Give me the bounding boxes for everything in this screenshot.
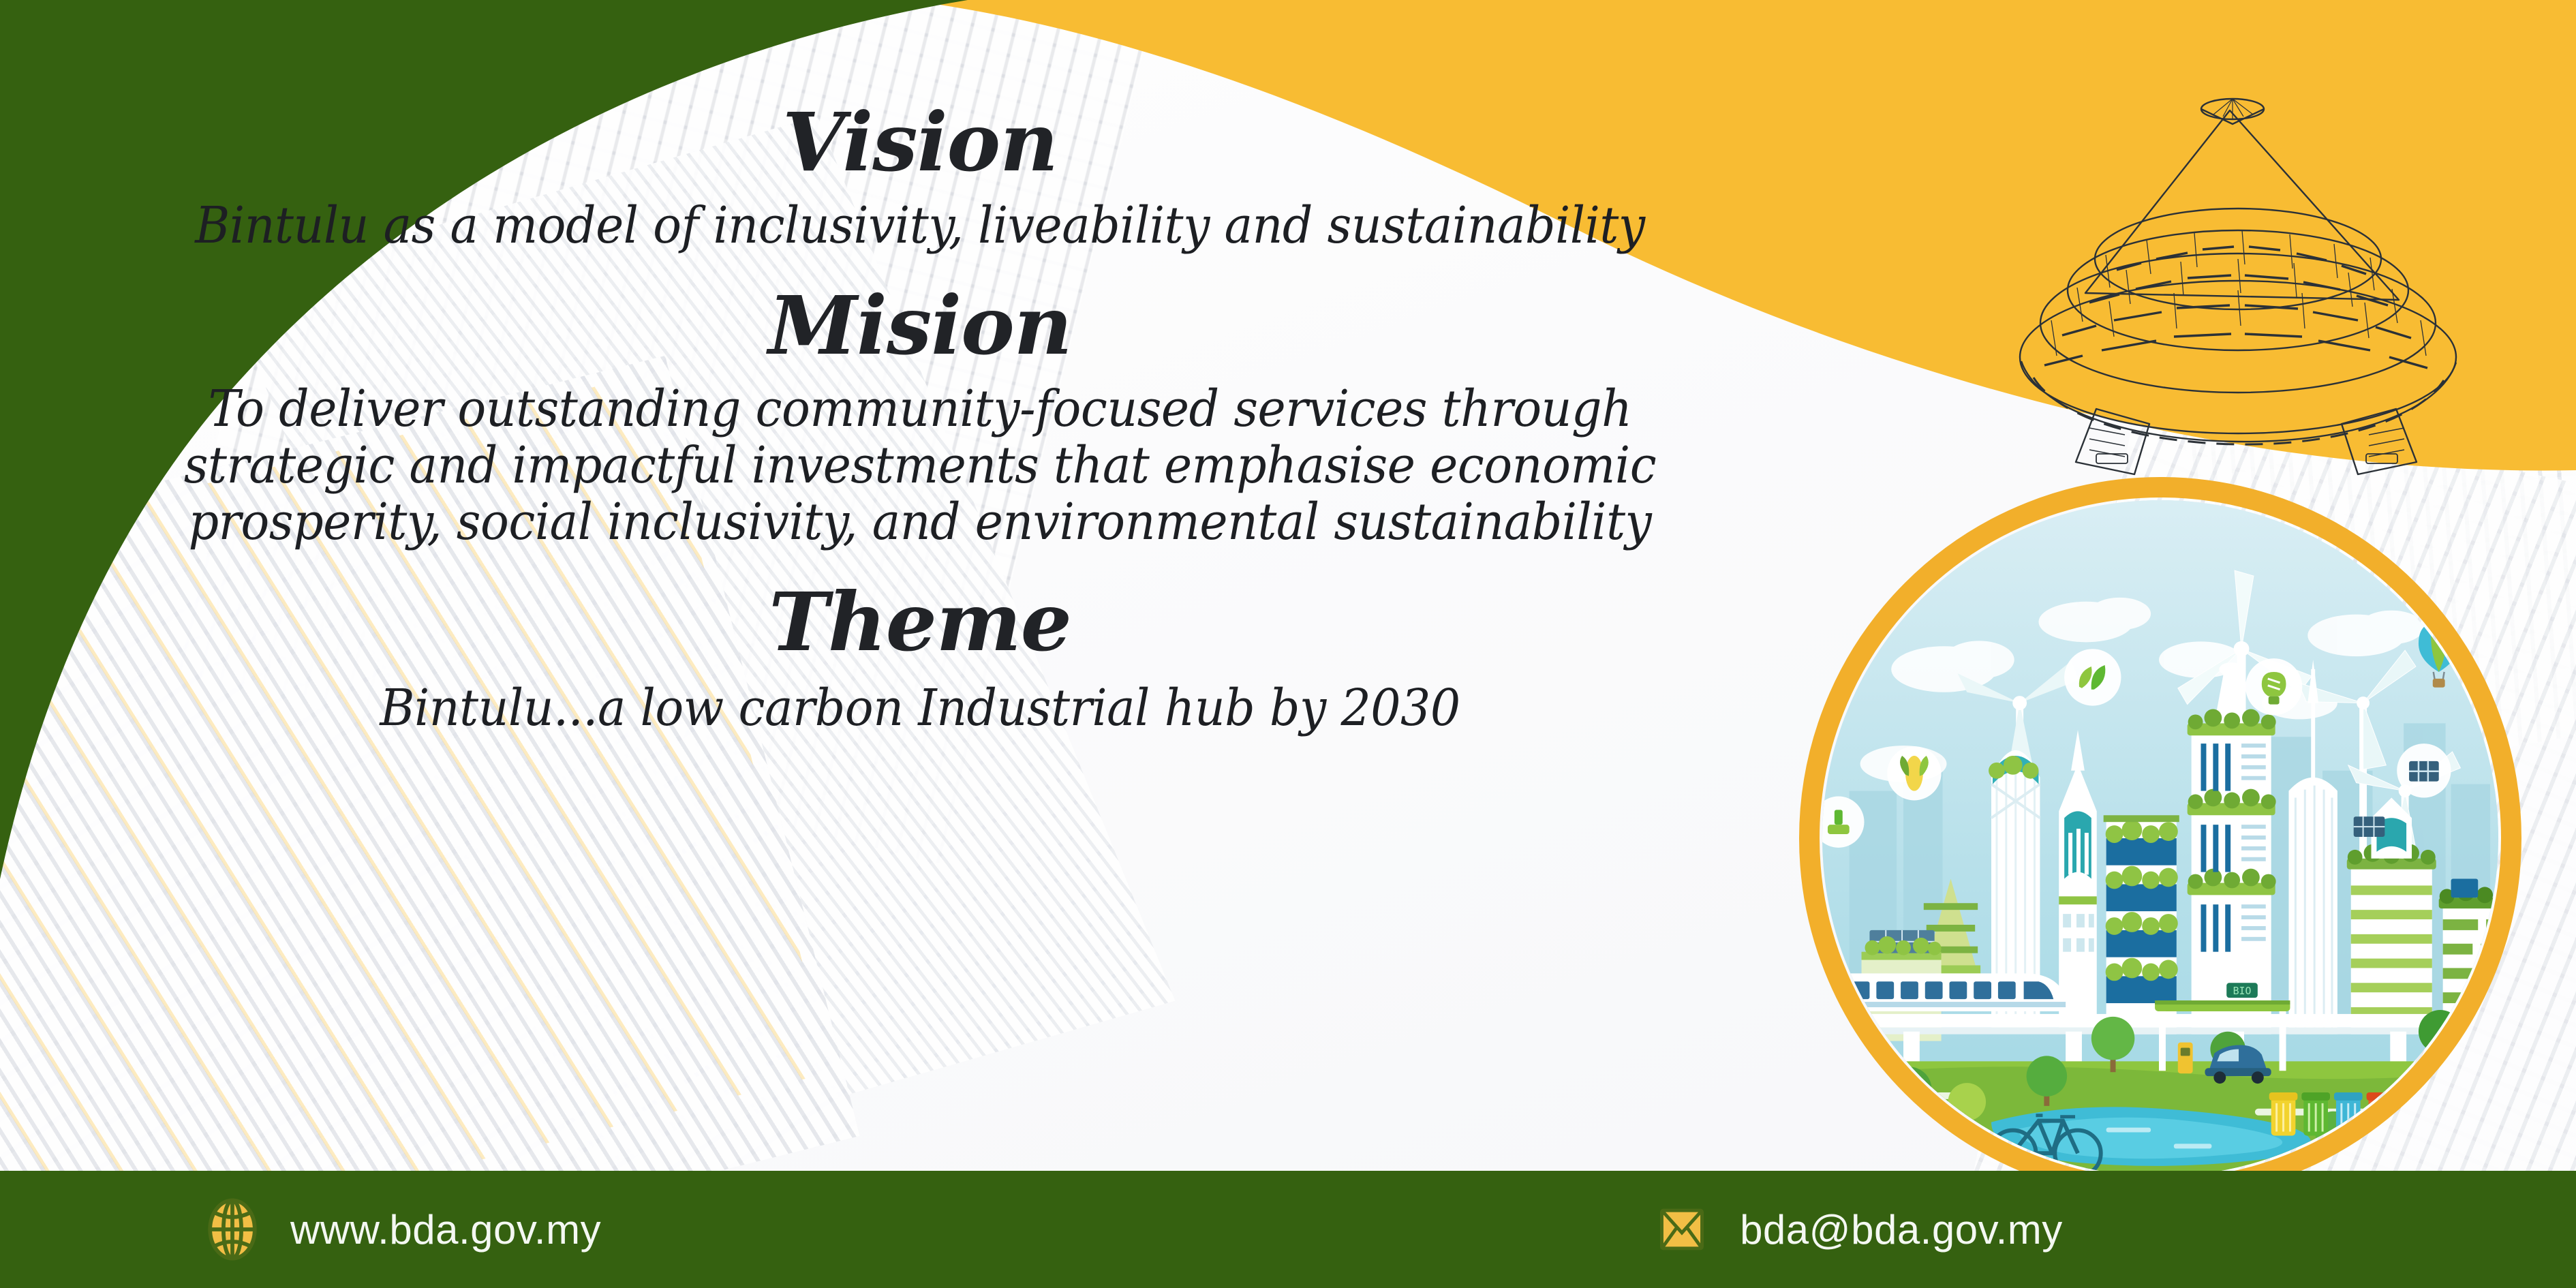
footer-website[interactable]: www.bda.gov.my <box>204 1198 601 1261</box>
envelope-icon <box>1654 1198 1710 1261</box>
dome-landmark-sketch <box>1963 89 2521 484</box>
theme-heading: Theme <box>0 582 1840 662</box>
theme-statement: Bintulu...a low carbon Industrial hub by… <box>55 680 1785 737</box>
globe-icon <box>204 1198 260 1261</box>
mision-statement: To deliver outstanding community-focused… <box>55 381 1785 551</box>
email-address: bda@bda.gov.my <box>1740 1206 2063 1253</box>
footer-bar: www.bda.gov.my bda@bda.gov.my <box>0 1171 2576 1288</box>
website-url: www.bda.gov.my <box>290 1206 601 1253</box>
mision-heading: Mision <box>0 286 1840 366</box>
content-block: Vision Bintulu as a model of inclusivity… <box>0 102 1840 736</box>
city-illustration-circle: BIO <box>1799 477 2521 1199</box>
mision-line-2: strategic and impactful investments that… <box>55 438 1785 494</box>
vision-heading: Vision <box>0 102 1840 183</box>
vision-statement: Bintulu as a model of inclusivity, livea… <box>55 198 1785 254</box>
footer-email[interactable]: bda@bda.gov.my <box>1654 1198 2063 1261</box>
banner-root: BIO <box>0 0 2576 1288</box>
mision-line-1: To deliver outstanding community-focused… <box>55 381 1785 438</box>
mision-line-3: prosperity, social inclusivity, and envi… <box>55 494 1785 551</box>
city-circle-ring <box>1799 477 2521 1199</box>
